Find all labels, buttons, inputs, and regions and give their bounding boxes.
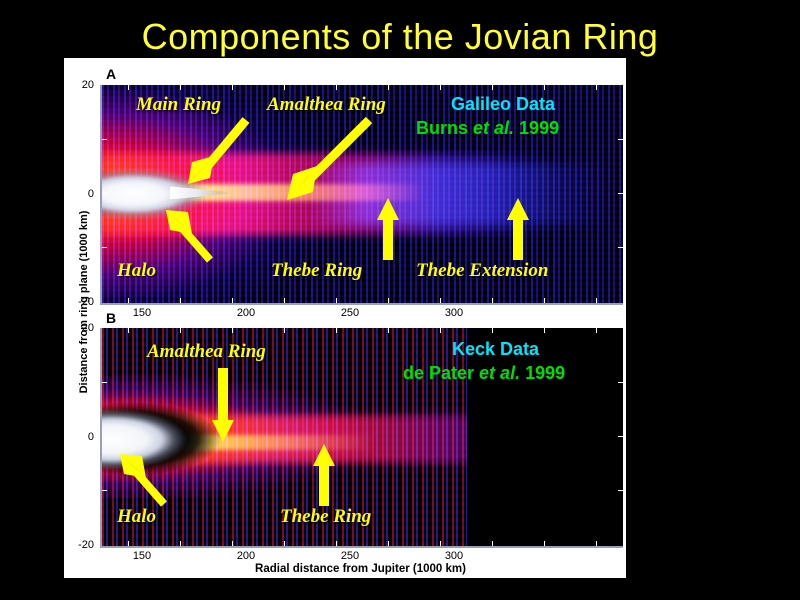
panel-b-tick-left	[102, 382, 107, 383]
panel-a-tick-bottom	[180, 298, 181, 303]
panel-a-tick-top	[180, 85, 181, 90]
panel-a-xtick-200: 200	[216, 307, 276, 319]
panel-b-tick-bottom	[284, 541, 285, 546]
panel-letter-a: A	[106, 66, 116, 82]
annotation-amalthea-ring-a: Amalthea Ring	[267, 94, 386, 116]
panel-a-ytick-neg20: -20	[64, 296, 94, 308]
panel-a-tick-bottom	[128, 298, 129, 303]
panel-a-ytick-20: 20	[64, 79, 94, 91]
figure-card: Distance from ring plane (1000 km) Radia…	[64, 58, 626, 578]
panel-b-tick-bottom	[388, 541, 389, 546]
annotation-thebe-extension-a: Thebe Extension	[416, 260, 548, 282]
panel-b-tick-top	[544, 328, 545, 333]
panel-a-tick-top	[284, 85, 285, 90]
source-keck-data: Keck Data	[452, 339, 539, 360]
panel-b-xtick-250: 250	[320, 550, 380, 562]
source-galileo-data: Galileo Data	[451, 94, 555, 115]
panel-b-xtick-150: 150	[112, 550, 172, 562]
panel-a-tick-bottom	[232, 298, 233, 303]
panel-b-ytick-20: 20	[64, 322, 94, 334]
panel-a-tick-bottom	[336, 298, 337, 303]
panel-letter-b: B	[106, 310, 116, 326]
arrow-amalthea-ring-a	[279, 116, 377, 206]
arrow-amalthea-ring-b	[212, 368, 234, 442]
annotation-amalthea-ring-b: Amalthea Ring	[147, 341, 266, 363]
panel-b-tick-top	[128, 328, 129, 333]
panel-b-tick-bottom	[336, 541, 337, 546]
arrow-halo-a	[162, 206, 224, 268]
slide-root: Components of the Jovian Ring Distance f…	[0, 0, 800, 600]
panel-b-tick-top	[596, 328, 597, 333]
source-burns-ref: Burns et al. 1999	[416, 118, 559, 139]
panel-a-tick-right	[618, 139, 623, 140]
panel-b-tick-top	[232, 328, 233, 333]
panel-b-tick-top	[440, 328, 441, 333]
arrow-main-ring-a	[184, 116, 254, 191]
panel-b-tick-top	[336, 328, 337, 333]
panel-b-xtick-200: 200	[216, 550, 276, 562]
panel-a-tick-bottom	[544, 298, 545, 303]
panel-b-xtick-300: 300	[424, 550, 484, 562]
panel-a-tick-top	[596, 85, 597, 90]
panel-b-tick-top	[388, 328, 389, 333]
panel-b-tick-left	[102, 436, 107, 437]
x-axis-title: Radial distance from Jupiter (1000 km)	[100, 563, 621, 575]
panel-a-tick-top	[128, 85, 129, 90]
panel-a-tick-right	[618, 247, 623, 248]
panel-b-tick-left	[102, 490, 107, 491]
panel-a-tick-top	[336, 85, 337, 90]
panel-a-tick-left	[102, 139, 107, 140]
panel-b-tick-right	[618, 436, 623, 437]
page-title: Components of the Jovian Ring	[0, 16, 800, 58]
panel-a-tick-bottom	[388, 298, 389, 303]
panel-b-tick-bottom	[232, 541, 233, 546]
panel-a-xtick-250: 250	[320, 307, 380, 319]
arrow-halo-b	[116, 450, 178, 512]
panel-a-tick-right	[618, 193, 623, 194]
panel-a-xtick-300: 300	[424, 307, 484, 319]
panel-a-tick-bottom	[596, 298, 597, 303]
panel-a-tick-bottom	[440, 298, 441, 303]
annotation-halo-a: Halo	[117, 260, 156, 282]
panel-a-tick-left	[102, 247, 107, 248]
arrow-thebe-extension-a	[507, 198, 529, 260]
panel-a-ytick-0: 0	[64, 188, 94, 200]
panel-a-tick-top	[440, 85, 441, 90]
panel-a-tick-bottom	[284, 298, 285, 303]
source-depater-ref: de Pater et al. 1999	[403, 363, 565, 384]
panel-a-tick-top	[544, 85, 545, 90]
panel-b-tick-top	[492, 328, 493, 333]
panel-a-tick-top	[492, 85, 493, 90]
panel-b-tick-top	[284, 328, 285, 333]
arrow-thebe-ring-b	[313, 444, 335, 506]
panel-b-tick-bottom	[180, 541, 181, 546]
annotation-thebe-ring-a: Thebe Ring	[271, 260, 362, 282]
panel-a-tick-left	[102, 193, 107, 194]
panel-b-tick-right	[618, 382, 623, 383]
panel-a-tick-bottom	[492, 298, 493, 303]
panel-b-ytick-0: 0	[64, 431, 94, 443]
arrow-thebe-ring-a	[377, 198, 399, 260]
panel-b-tick-bottom	[492, 541, 493, 546]
panel-a-xtick-150: 150	[112, 307, 172, 319]
panel-b-tick-bottom	[440, 541, 441, 546]
panel-b-ytick-neg20: -20	[64, 539, 94, 551]
panel-b-tick-top	[180, 328, 181, 333]
annotation-thebe-ring-b: Thebe Ring	[280, 506, 371, 528]
annotation-main-ring-a: Main Ring	[136, 94, 221, 116]
panel-a-tick-top	[232, 85, 233, 90]
panel-b-tick-bottom	[544, 541, 545, 546]
panel-b-tick-bottom	[596, 541, 597, 546]
panel-b-no-data-region	[467, 328, 623, 546]
panel-b-tick-bottom	[128, 541, 129, 546]
panel-a-tick-top	[388, 85, 389, 90]
panel-b-tick-right	[618, 490, 623, 491]
